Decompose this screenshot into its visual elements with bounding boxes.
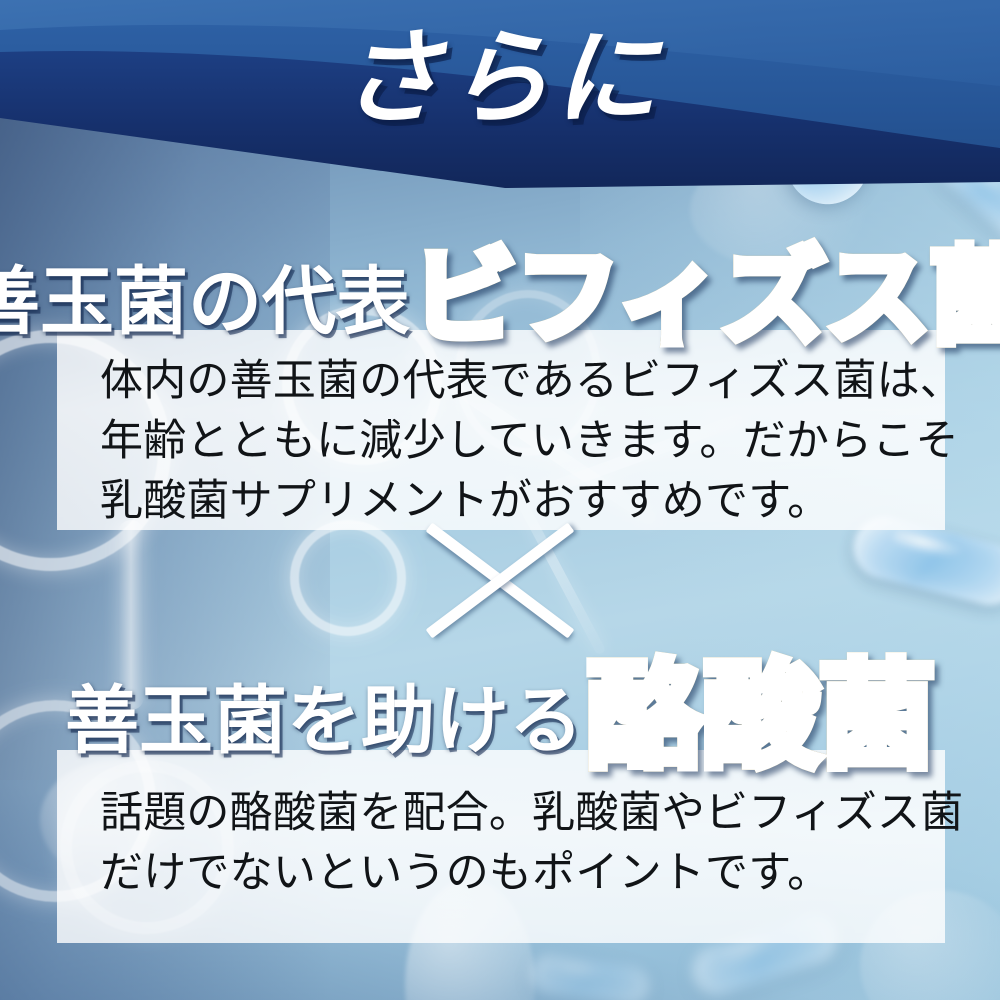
body-line: 話題の酪酸菌を配合。乳酸菌やビフィズス菌 [100,784,1000,844]
section-heading-bifidus: 善玉菌の代表 ビフィズス菌 [0,206,1000,357]
heading-gold-text: ビフィズス菌 [412,212,1000,363]
promo-poster: さらに 善玉菌の代表 ビフィズス菌 体内の善玉菌の代表であるビフィズス菌は、 年… [0,0,1000,1000]
heading-gold-text: 酪酸菌 [587,622,935,790]
body-line: だけでないというのもポイントです。 [100,844,1000,904]
section-heading-butyric: 善玉菌を助ける 酪酸菌 [0,612,1000,780]
body-line: 年齢とともに減少していきます。だからこそ [100,412,1000,472]
body-text-bifidus: 体内の善玉菌の代表であるビフィズス菌は、 年齢とともに減少していきます。だからこ… [0,352,1000,533]
body-line: 体内の善玉菌の代表であるビフィズス菌は、 [100,352,1000,412]
body-text-butyric: 話題の酪酸菌を配合。乳酸菌やビフィズス菌 だけでないというのもポイントです。 [0,784,1000,904]
heading-plain-text: 善玉菌を助ける [65,661,583,768]
page-title: さらに [0,24,1000,136]
heading-plain-text: 善玉菌の代表 [0,242,410,349]
